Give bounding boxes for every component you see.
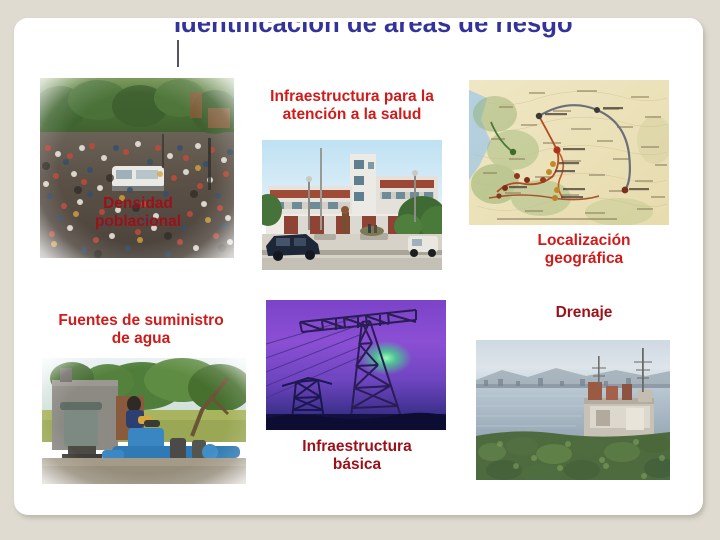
water-pump-station-photo [42, 358, 246, 484]
caption-health-infrastructure: Infraestructura para la atención a la sa… [252, 88, 452, 125]
caption-density: Densidad poblacional [54, 195, 222, 232]
slide-root: Identificación de áreas de riesgo [0, 0, 720, 540]
caption-drainage: Drenaje [514, 304, 654, 322]
caption-geographic-location: Localización geográfica [494, 232, 674, 269]
caption-basic-infrastructure: Infraestructura básica [282, 438, 432, 475]
slide-card: Identificación de áreas de riesgo [14, 18, 703, 515]
text-cursor-caret [177, 40, 179, 67]
hospital-building-photo [262, 140, 442, 270]
title-top-clip [14, 18, 703, 22]
topographic-route-map [469, 80, 669, 225]
electrical-transmission-tower-photo [266, 300, 446, 430]
title-band: Identificación de áreas de riesgo [14, 18, 703, 68]
lake-drainage-structure-photo [476, 340, 670, 480]
caption-water-sources: Fuentes de suministro de agua [28, 312, 254, 349]
